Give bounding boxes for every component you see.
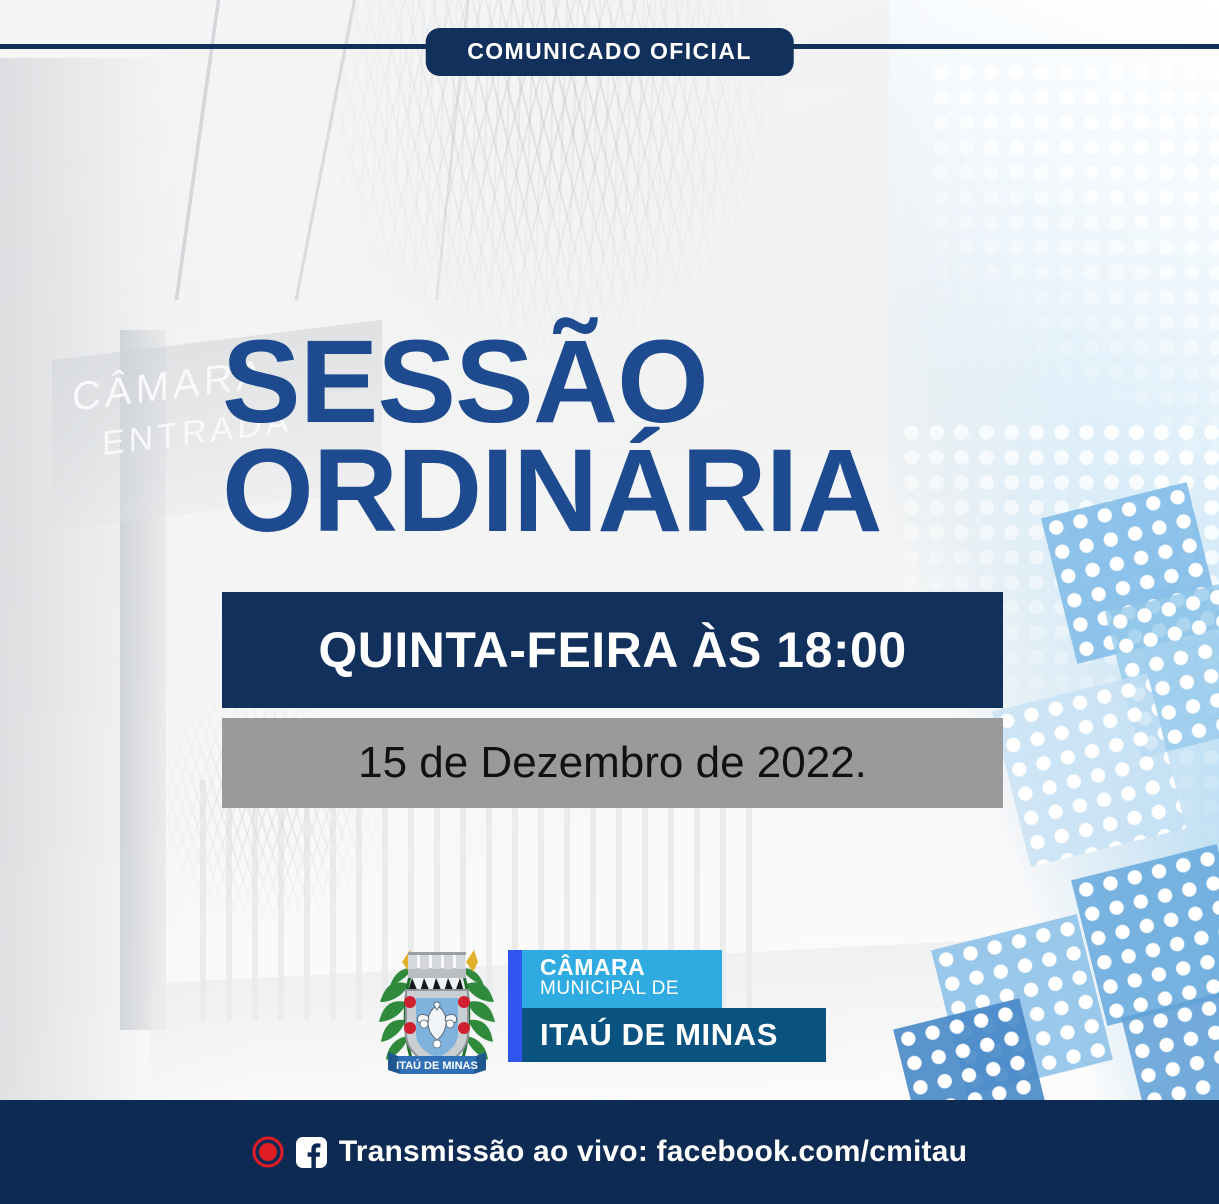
official-notice-badge: COMUNICADO OFICIAL (425, 28, 794, 76)
session-time-text: QUINTA-FEIRA ÀS 18:00 (318, 621, 906, 679)
page-title: SESSÃO ORDINÁRIA (222, 328, 1022, 545)
livestream-text: Transmissão ao vivo: facebook.com/cmitau (339, 1135, 967, 1169)
session-time-bar: QUINTA-FEIRA ÀS 18:00 (222, 592, 1003, 708)
logo-line-city: ITAÚ DE MINAS (540, 1017, 778, 1053)
page-title-line1: SESSÃO (222, 328, 1022, 437)
logo-line-camara: CÂMARA (540, 956, 722, 979)
session-date-bar: 15 de Dezembro de 2022. (222, 718, 1003, 808)
record-live-icon (252, 1136, 284, 1168)
logo-line-municipal: MUNICIPAL DE (540, 979, 722, 998)
facebook-icon[interactable] (296, 1137, 327, 1168)
institution-logo: ITAÚ DE MINAS CÂMARA MUNICIPAL DE ITAÚ D… (378, 932, 828, 1080)
livestream-footer: Transmissão ao vivo: facebook.com/cmitau (0, 1100, 1219, 1204)
poster-canvas: CÂMARA ENTRADA COMUNICADO OFICIAL SESSÃO… (0, 0, 1219, 1204)
logo-accent-bar (508, 950, 522, 1062)
crest-ribbon-text: ITAÚ DE MINAS (396, 1059, 478, 1072)
institution-logo-text: CÂMARA MUNICIPAL DE ITAÚ DE MINAS (508, 950, 826, 1062)
coat-of-arms-icon: ITAÚ DE MINAS (378, 932, 496, 1080)
session-date-text: 15 de Dezembro de 2022. (358, 738, 867, 788)
logo-camara-block: CÂMARA MUNICIPAL DE (522, 950, 722, 1008)
logo-city-block: ITAÚ DE MINAS (522, 1008, 826, 1062)
page-title-line2: ORDINÁRIA (222, 437, 1022, 546)
